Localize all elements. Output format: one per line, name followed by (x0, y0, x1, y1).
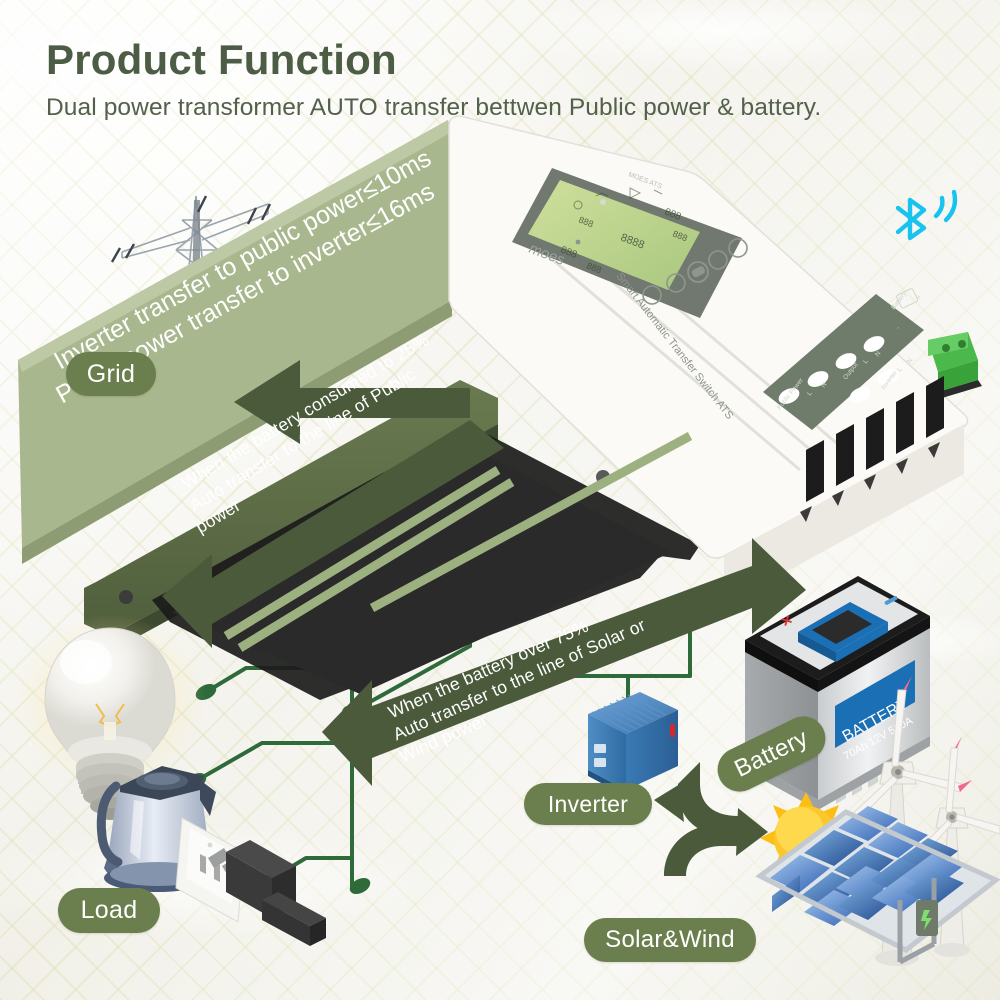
banner-to-inverter-text-group: When the battery over 75% Auto transfer … (0, 0, 1000, 1000)
bluetooth-icon (880, 186, 966, 254)
label-load: Load (58, 888, 160, 933)
label-inverter: Inverter (524, 783, 652, 825)
banner-to-inverter-line2: Auto transfer to the line of Solar or (390, 615, 649, 746)
label-solar-wind: Solar&Wind (584, 918, 756, 962)
label-grid: Grid (66, 352, 156, 396)
